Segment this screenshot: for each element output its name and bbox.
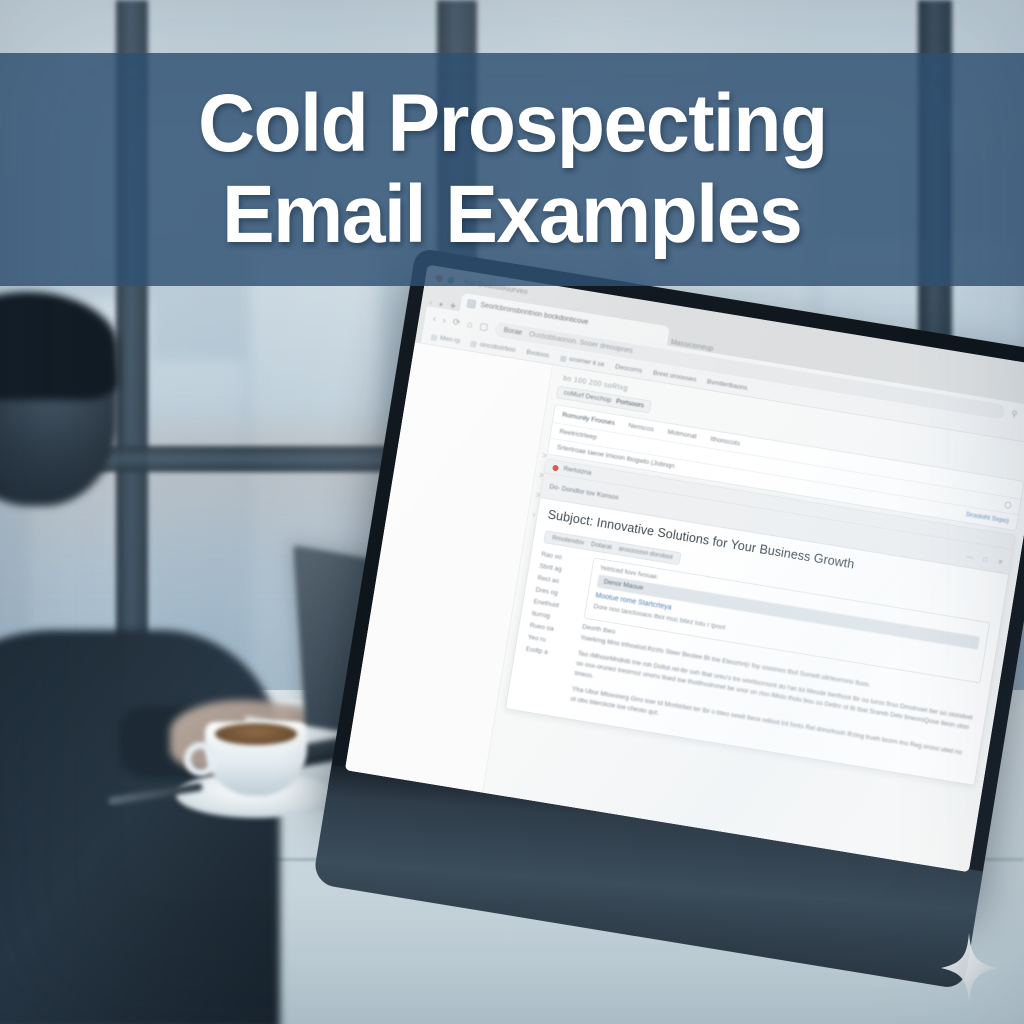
home-icon[interactable]: ⌂ — [466, 319, 473, 330]
email-status-label: Rertoizna — [563, 465, 592, 476]
bookmark-favicon — [470, 340, 477, 347]
tab-favicon — [467, 299, 477, 309]
new-tab-icon[interactable]: ✚ — [447, 302, 458, 311]
bookmark-icon[interactable]: ▢ — [479, 320, 489, 332]
meta-chip: Rmotendsv — [552, 534, 585, 546]
reload-icon[interactable]: ⟳ — [452, 316, 461, 328]
page-title-line2: Email Examples — [222, 176, 801, 255]
bookmark-label: Men-rp — [439, 335, 460, 345]
filter-tab[interactable]: Nenscos — [628, 422, 654, 433]
coffee-cup-handle — [184, 742, 218, 776]
bookmark-item[interactable]: Men-rp — [431, 333, 461, 345]
bookmark-label: snsimer it ce — [568, 356, 605, 369]
minimize-icon[interactable]: — — [966, 554, 974, 562]
bookmark-label: Bnret oroooseo — [652, 370, 696, 384]
filter-tab[interactable]: Ithonscots — [710, 436, 741, 448]
page-title-line1: Cold Prospecting — [198, 85, 827, 164]
poster-canvas: Bar-Dudostouurveo ‹ ● ✚ Seorlcbronsbnntr… — [0, 0, 1024, 1024]
desktop-monitor: Bar-Dudostouurveo ‹ ● ✚ Seorlcbronsbnntr… — [313, 248, 1024, 993]
filter-tab[interactable]: Motmonat — [667, 429, 697, 441]
search-icon[interactable]: ⚲ — [1011, 409, 1018, 419]
meta-chip: aroozoosn doroloot — [618, 545, 673, 561]
tab-scroll-left-icon[interactable]: ‹ — [427, 299, 434, 307]
title-banner: Cold Prospecting Email Examples — [0, 53, 1024, 286]
bookmark-item[interactable]: Bvmtlertbaons — [706, 378, 747, 392]
app-main-panel: bo 100 200 soRtxg coMurf Deschop Portsoo… — [482, 365, 1024, 872]
bookmark-label: Bvotoos — [526, 349, 550, 360]
close-icon[interactable]: ✕ — [997, 559, 1004, 567]
monitor-screen: Bar-Dudostouurveo ‹ ● ✚ Seorlcbronsbnntr… — [345, 265, 1024, 872]
sparkle-icon — [941, 933, 997, 1003]
address-bar-value: Borae — [503, 326, 523, 336]
list-item-link[interactable]: Srooloht Sxpo) — [965, 511, 1009, 525]
bookmark-item[interactable]: Bvotoos — [526, 349, 550, 360]
bookmark-favicon — [560, 355, 567, 362]
breadcrumb-item-current[interactable]: Portsoors — [616, 398, 645, 409]
bookmark-item[interactable]: sincobstrboo — [470, 340, 516, 354]
bookmark-label: Deocorns — [615, 363, 643, 374]
bookmark-label: sincobstrboo — [479, 341, 516, 354]
tab-menu-icon[interactable]: ● — [436, 301, 445, 309]
email-body-content: Yetrtced fovv fvosae: Denor Maoue Mootue… — [569, 557, 991, 774]
breadcrumb-item[interactable]: coMurf Deschop — [563, 389, 612, 404]
side-label: Eodtp a — [525, 646, 572, 660]
person-torso-suit — [0, 630, 280, 1024]
bookmark-item[interactable]: Deocorns — [615, 363, 643, 374]
coffee-liquid — [215, 723, 297, 745]
unread-status-dot — [552, 464, 559, 471]
maximize-icon[interactable]: □ — [983, 556, 988, 564]
bookmark-label: Bvmtlertbaons — [706, 378, 747, 392]
bookmark-item[interactable]: Bnret oroooseo — [652, 370, 696, 384]
email-sender-line: Do- Dondlor tov Konsos — [549, 483, 619, 501]
status-circle-icon[interactable] — [1004, 501, 1012, 509]
back-arrow-icon[interactable]: ‹ — [432, 313, 437, 323]
forward-arrow-icon[interactable]: › — [442, 315, 447, 325]
bookmark-item[interactable]: snsimer it ce — [559, 354, 604, 368]
bookmark-favicon — [431, 334, 438, 341]
meta-chip: Dotarat — [590, 541, 612, 551]
